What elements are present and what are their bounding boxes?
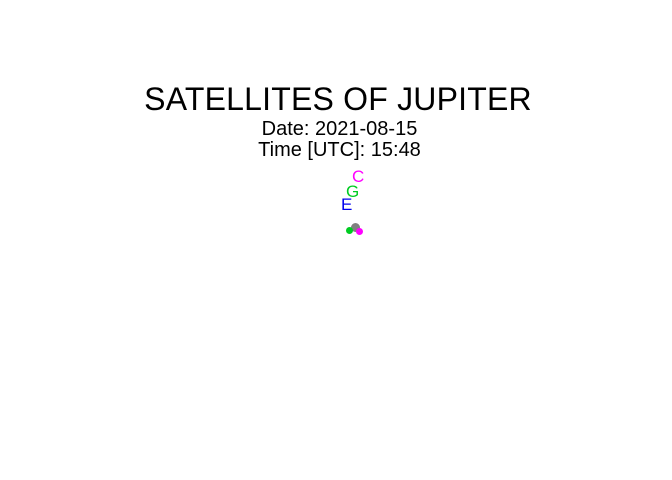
- green-marker: [346, 227, 353, 234]
- moon-label-e: E: [341, 196, 352, 213]
- satellites-of-jupiter-figure: SATELLITES OF JUPITER Date: 2021-08-15 T…: [0, 0, 672, 480]
- sky-plot-area: CGE: [0, 0, 672, 480]
- magenta-marker: [356, 228, 363, 235]
